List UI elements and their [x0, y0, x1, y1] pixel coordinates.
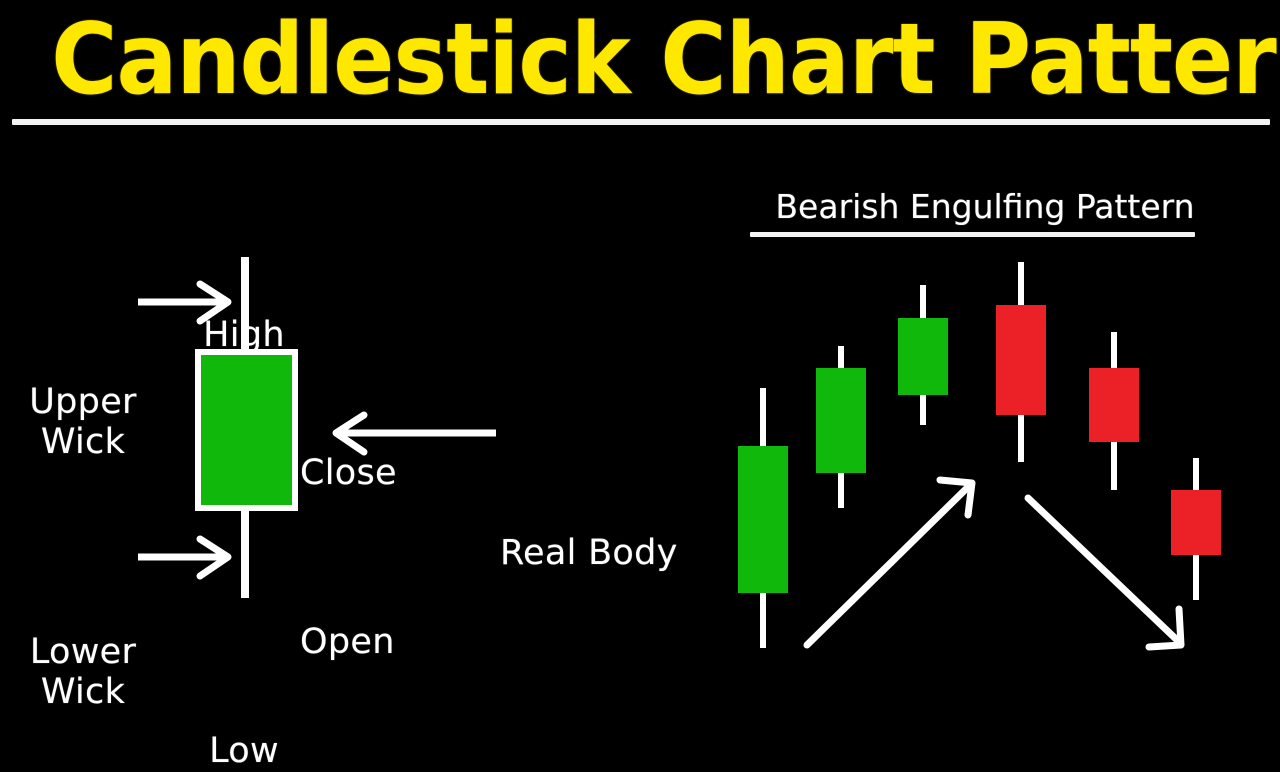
real-body-arrow — [336, 415, 496, 452]
candlestick-chart — [690, 128, 1280, 720]
label-open: Open — [300, 623, 460, 663]
title-divider — [12, 119, 1270, 125]
page-title: Candlestick Chart Patterns — [51, 6, 1229, 114]
label-lower-wick: Lower Wick — [8, 633, 158, 713]
candle-real-body — [898, 318, 948, 395]
label-high: High — [178, 316, 310, 356]
label-upper-wick: Upper Wick — [8, 383, 158, 463]
candle-real-body — [816, 368, 866, 473]
bearish-engulfing-panel: Bearish Engulfing Pattern — [690, 128, 1280, 720]
label-close: Close — [300, 454, 460, 494]
slide-canvas: Candlestick Chart Patterns — [0, 0, 1280, 720]
title-bar: Candlestick Chart Patterns — [0, 0, 1280, 128]
lower-wick-arrow — [138, 539, 228, 576]
downtrend-arrow — [1028, 498, 1181, 647]
candlestick-anatomy-panel: High Low Close Open Upper Wick Lower Wic… — [0, 128, 690, 720]
candle-series — [738, 262, 1221, 648]
candle-real-body — [996, 305, 1046, 415]
label-real-body: Real Body — [500, 534, 690, 574]
candle-real-body — [738, 446, 788, 593]
label-low: Low — [178, 732, 310, 772]
candle-real-body — [1171, 490, 1221, 555]
uptrend-arrow — [807, 480, 972, 645]
candle-real-body — [1089, 368, 1139, 442]
candle-real-body — [198, 352, 295, 508]
